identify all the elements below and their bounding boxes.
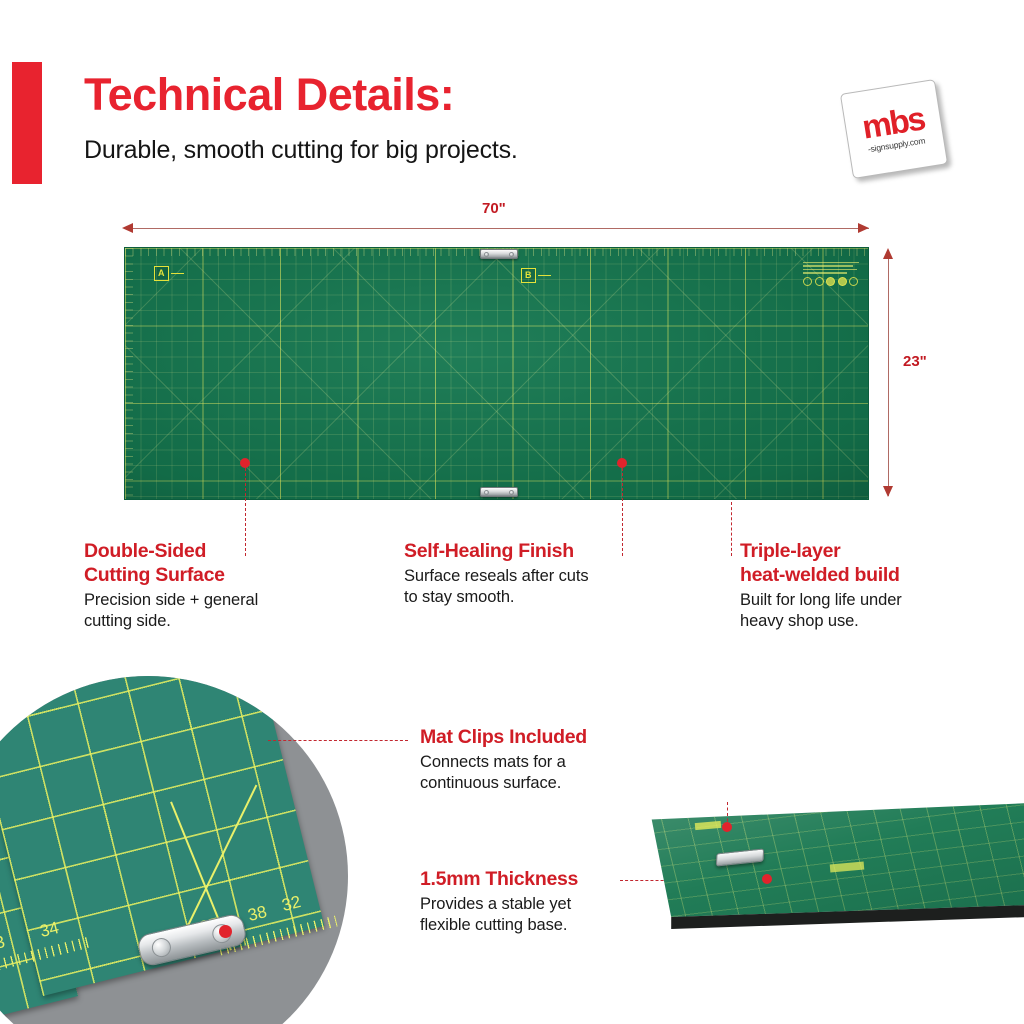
callout-dot-double-sided (240, 458, 250, 468)
clip-stud (484, 490, 489, 495)
mat-ruler-left (125, 248, 133, 499)
callout-body: Built for long life under heavy shop use… (740, 590, 985, 633)
callout-body: Precision side + general cutting side. (84, 590, 319, 633)
mat-clip-detail-photo: 33 34 37 38 32 (0, 676, 348, 1024)
mat-major-grid (125, 248, 868, 499)
clip-stud (484, 252, 489, 257)
mat-product-info-block (803, 262, 861, 304)
arrow-left-icon (122, 223, 133, 233)
mat-shading (125, 248, 868, 499)
callout-title: Double-Sided Cutting Surface (84, 540, 319, 588)
callout-body: Provides a stable yet flexible cutting b… (420, 894, 670, 937)
infographic-page: Technical Details: Durable, smooth cutti… (0, 0, 1024, 1024)
clip-stud (509, 490, 514, 495)
callout-title: Self-Healing Finish (404, 540, 639, 564)
callout-self-healing: Self-Healing Finish Surface reseals afte… (404, 540, 639, 609)
info-line (803, 269, 857, 270)
clip-stud (509, 252, 514, 257)
callout-leader-mat-clips (268, 740, 408, 741)
mat-badge-a: A (154, 266, 184, 281)
warning-icon (838, 277, 847, 286)
callout-body: Surface reseals after cuts to stay smoot… (404, 566, 639, 609)
clip-stud (150, 936, 173, 959)
warning-icon (803, 277, 812, 286)
info-line (803, 265, 853, 266)
dimension-height-label: 23" (903, 353, 927, 370)
mat-clip-top (480, 249, 518, 259)
arrow-right-icon (858, 223, 869, 233)
mat-warning-icons (803, 277, 861, 286)
cutting-mat-top-view: A B (124, 247, 869, 500)
warning-icon (815, 277, 824, 286)
brand-logo: mbs -signsupply.com (840, 82, 950, 180)
callout-mat-clips: Mat Clips Included Connects mats for a c… (420, 726, 670, 795)
callout-body: Connects mats for a continuous surface. (420, 752, 670, 795)
callout-dot-triple-layer (722, 822, 732, 832)
callout-title: Triple-layer heat-welded build (740, 540, 985, 588)
info-line (803, 272, 847, 273)
mat-badge-b: B (521, 268, 551, 283)
warning-icon (849, 277, 858, 286)
warning-icon (826, 277, 835, 286)
callout-dot-self-healing (617, 458, 627, 468)
callout-title: Mat Clips Included (420, 726, 670, 750)
dimension-width-line (124, 228, 869, 229)
accent-bar (12, 62, 42, 184)
mat-badge-a-label: A (154, 266, 169, 281)
cutting-mat-perspective-view (640, 800, 1024, 950)
dimension-height-line (888, 250, 889, 496)
dimension-width-label: 70" (482, 200, 506, 217)
mat-badge-a-tail (171, 273, 184, 275)
mat-fine-grid (125, 248, 868, 499)
callout-leader-triple-layer (731, 502, 732, 556)
arrow-up-icon (883, 248, 893, 259)
callout-dot-thickness (762, 874, 772, 884)
mat-diagonal-guides (125, 248, 868, 499)
callout-dot-mat-clips (219, 925, 232, 938)
logo-content: mbs -signsupply.com (840, 79, 948, 179)
page-subtitle: Durable, smooth cutting for big projects… (84, 136, 518, 165)
page-title: Technical Details: (84, 72, 454, 117)
mat-badge-b-tail (538, 275, 551, 277)
mat-clip-bottom (480, 487, 518, 497)
arrow-down-icon (883, 486, 893, 497)
callout-thickness: 1.5mm Thickness Provides a stable yet fl… (420, 868, 670, 937)
info-line (803, 262, 859, 263)
mat-badge-b-label: B (521, 268, 536, 283)
callout-triple-layer: Triple-layer heat-welded build Built for… (740, 540, 985, 632)
callout-double-sided: Double-Sided Cutting Surface Precision s… (84, 540, 319, 632)
